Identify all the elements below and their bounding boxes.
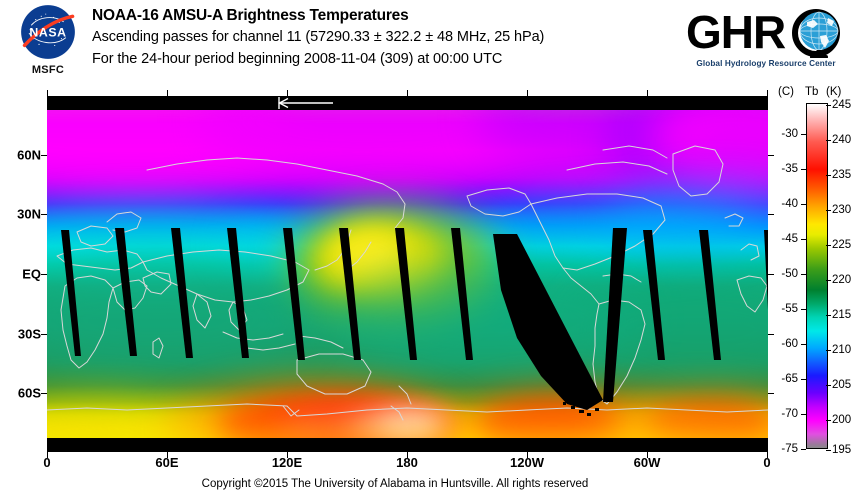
copyright-notice: Copyright ©2015 The University of Alabam… xyxy=(0,478,790,490)
y-tick-label-eq: EQ xyxy=(0,267,41,282)
cb-c--50: -50 xyxy=(774,268,798,280)
figure-root: NASA MSFC NOAA-16 AMSU-A Brightness Temp… xyxy=(0,0,854,502)
orbital-swath-gaps xyxy=(47,110,768,438)
colorbar-variable-label: Tb xyxy=(805,86,818,98)
map-plot-area[interactable] xyxy=(47,96,768,452)
y-tick-label-60n: 60N xyxy=(0,148,41,163)
nasa-meatball-icon: NASA xyxy=(20,4,76,60)
cb-k-220: 220 xyxy=(832,274,854,286)
cb-k-195: 195 xyxy=(832,444,854,456)
colorbar-gradient xyxy=(806,103,828,449)
cb-c--35: -35 xyxy=(774,163,798,175)
x-tick-label-60e: 60E xyxy=(155,455,178,470)
x-tick-label-60w: 60W xyxy=(634,455,661,470)
x-tick-label-0: 0 xyxy=(43,455,50,470)
cb-k-245: 245 xyxy=(832,99,854,111)
cb-k-230: 230 xyxy=(832,204,854,216)
cb-c--70: -70 xyxy=(774,408,798,420)
x-tick-label-120e: 120E xyxy=(272,455,302,470)
map-image xyxy=(47,110,768,438)
cb-k-240: 240 xyxy=(832,134,854,146)
cb-k-235: 235 xyxy=(832,169,854,181)
svg-text:NASA: NASA xyxy=(29,25,66,39)
colorbar-unit-kelvin: (K) xyxy=(826,86,841,98)
cb-k-215: 215 xyxy=(832,309,854,321)
cb-k-210: 210 xyxy=(832,344,854,356)
y-tick-label-30s: 30S xyxy=(0,327,41,342)
ghrc-logo: GHR Global Hydrology Resource Center xyxy=(686,4,846,78)
header-block: NOAA-16 AMSU-A Brightness Temperatures A… xyxy=(92,6,672,70)
svg-text:GHR: GHR xyxy=(686,6,786,58)
cb-k-205: 205 xyxy=(832,379,854,391)
cb-c--45: -45 xyxy=(774,233,798,245)
header-subtitle-channel: Ascending passes for channel 11 (57290.3… xyxy=(92,26,672,48)
header-subtitle-period: For the 24-hour period beginning 2008-11… xyxy=(92,48,672,70)
left-arrow-annotation-icon xyxy=(275,96,335,110)
cb-k-200: 200 xyxy=(832,414,854,426)
cb-k-225: 225 xyxy=(832,239,854,251)
cb-c--55: -55 xyxy=(774,303,798,315)
colorbar: (C) Tb (K) -30 -35 -40 -45 -50 -55 -60 -… xyxy=(778,86,854,466)
cb-c--65: -65 xyxy=(774,373,798,385)
y-tick-label-30n: 30N xyxy=(0,207,41,222)
x-tick-label-180: 180 xyxy=(396,455,418,470)
temperature-field xyxy=(47,110,768,438)
ghrc-tagline: Global Hydrology Resource Center xyxy=(686,59,846,68)
x-tick-label-360: 0 xyxy=(763,455,770,470)
cb-c--40: -40 xyxy=(774,198,798,210)
cb-c--75: -75 xyxy=(774,443,798,455)
nasa-center-label: MSFC xyxy=(14,64,82,76)
cb-c--30: -30 xyxy=(774,128,798,140)
nasa-logo: NASA MSFC xyxy=(14,4,82,84)
cb-c--60: -60 xyxy=(774,338,798,350)
colorbar-unit-celsius: (C) xyxy=(778,86,794,98)
page-title: NOAA-16 AMSU-A Brightness Temperatures xyxy=(92,6,672,26)
x-tick-label-120w: 120W xyxy=(510,455,544,470)
y-tick-label-60s: 60S xyxy=(0,386,41,401)
ghrc-wordmark-icon: GHR xyxy=(686,6,846,58)
